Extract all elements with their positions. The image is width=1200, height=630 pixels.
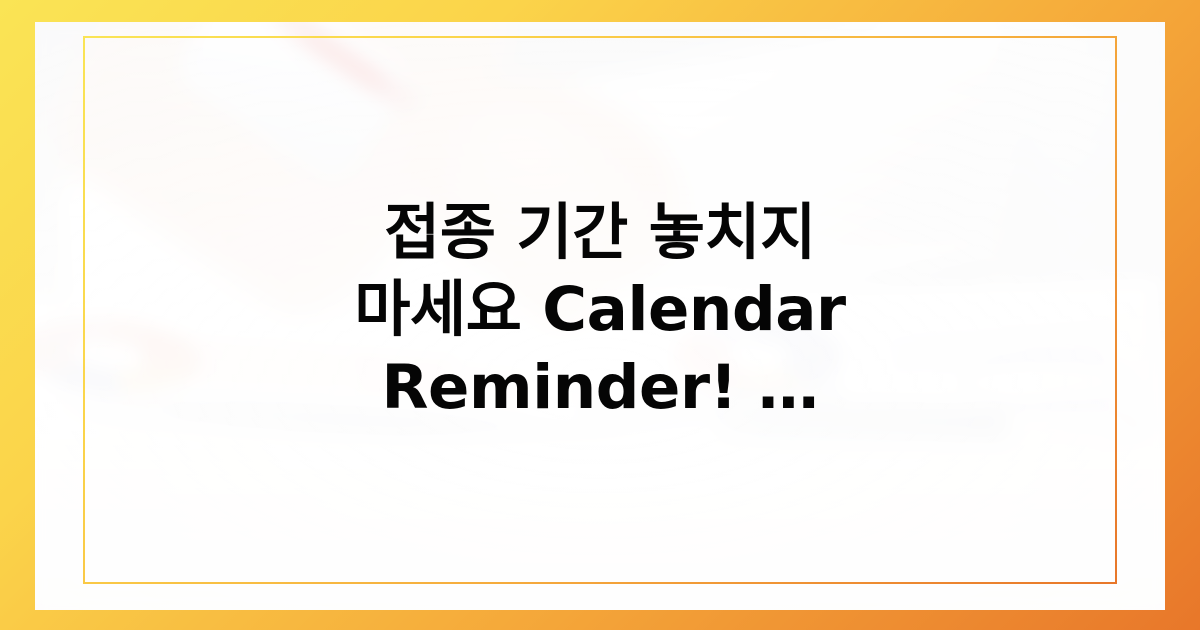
social-share-card: 접종 기간 놓치지 마세요 Calendar Reminder! … xyxy=(0,0,1200,630)
page-title: 접종 기간 놓치지 마세요 Calendar Reminder! … xyxy=(294,194,906,426)
headline-container: 접종 기간 놓치지 마세요 Calendar Reminder! … xyxy=(83,36,1117,584)
